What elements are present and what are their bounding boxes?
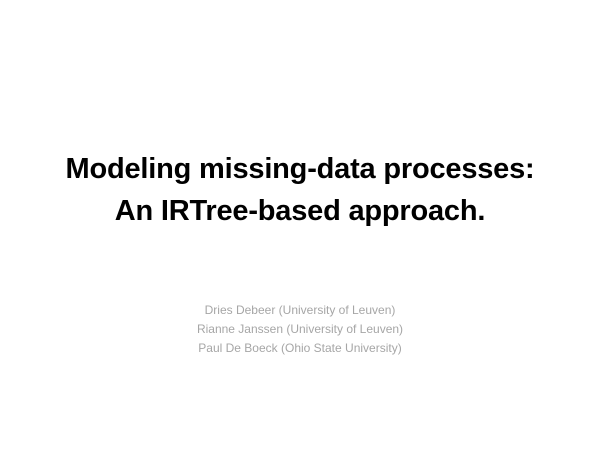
author-line-2: Rianne Janssen (University of Leuven) bbox=[0, 320, 600, 339]
title-line-2: An IRTree-based approach. bbox=[0, 190, 600, 232]
author-line-1: Dries Debeer (University of Leuven) bbox=[0, 301, 600, 320]
slide-authors: Dries Debeer (University of Leuven) Rian… bbox=[0, 301, 600, 358]
author-line-3: Paul De Boeck (Ohio State University) bbox=[0, 339, 600, 358]
title-line-1: Modeling missing-data processes: bbox=[0, 148, 600, 190]
slide-title: Modeling missing-data processes: An IRTr… bbox=[0, 148, 600, 232]
presentation-title-slide: Modeling missing-data processes: An IRTr… bbox=[0, 0, 600, 450]
